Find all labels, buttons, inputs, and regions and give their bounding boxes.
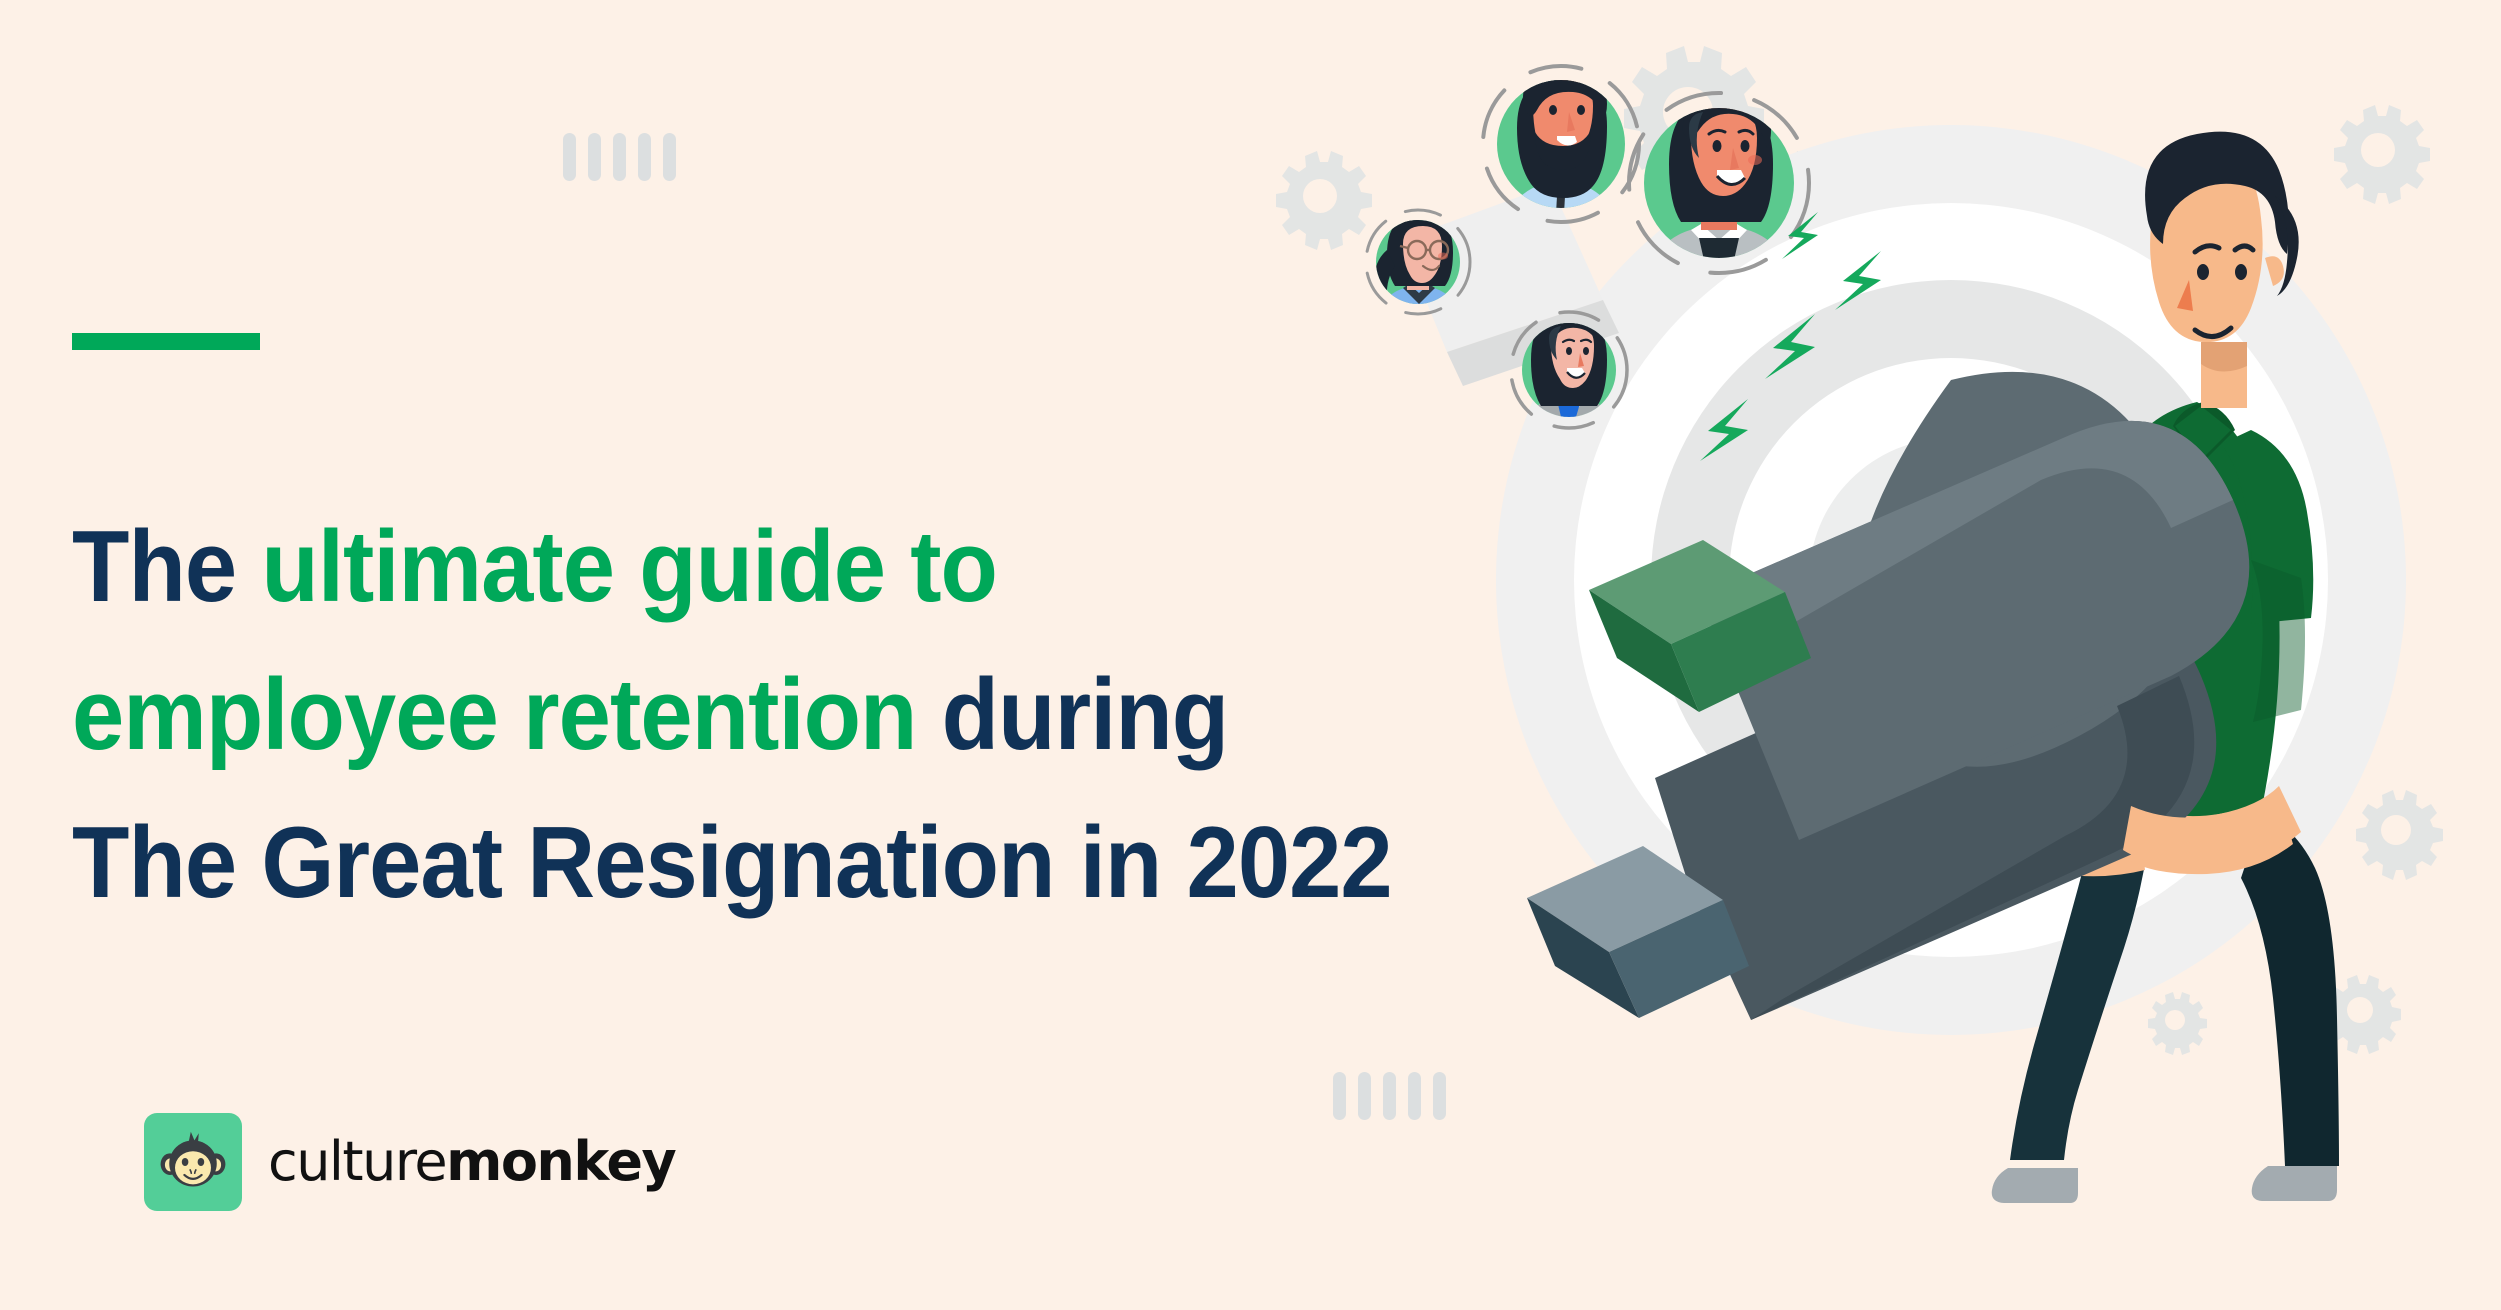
headline-segment-navy: The <box>72 511 261 623</box>
headline-line-1: The ultimate guide to <box>72 493 1151 641</box>
headline-segment-navy: during <box>917 659 1229 771</box>
brand-logo[interactable]: culturemonkey <box>144 1113 675 1211</box>
logo-wordmark: culturemonkey <box>268 1135 675 1189</box>
headline-segment-green: employee retention <box>72 659 917 771</box>
headline-segment-navy: The Great Resignation in 2022 <box>72 807 1392 919</box>
monkey-face-icon <box>144 1113 242 1211</box>
headline-segment-green: ultimate guide to <box>261 511 997 623</box>
accent-bar <box>72 333 260 350</box>
headline-line-2: employee retention during <box>72 641 1151 789</box>
employee-retention-magnet-illustration <box>1251 0 2501 1310</box>
headline-line-3: The Great Resignation in 2022 <box>72 789 1151 937</box>
text-column: The ultimate guide toemployee retention … <box>72 0 1252 1310</box>
page-title: The ultimate guide toemployee retention … <box>72 493 1151 937</box>
logo-wordmark-bold: monkey <box>446 1130 675 1193</box>
logo-wordmark-light: culture <box>268 1130 446 1193</box>
banner-root: The ultimate guide toemployee retention … <box>0 0 2501 1310</box>
